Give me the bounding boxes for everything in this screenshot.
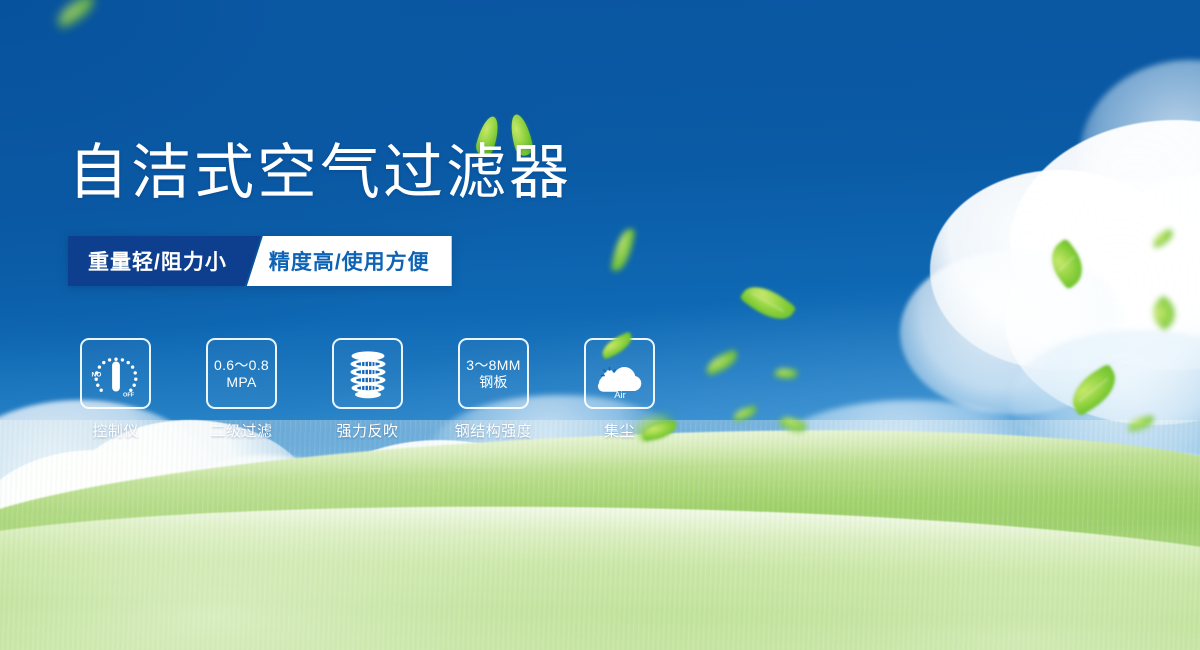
- feature-text-line1: 0.6～0.8: [214, 357, 269, 374]
- feature-label: 控制仪: [92, 420, 139, 441]
- dial-on-label: NO: [91, 371, 101, 378]
- feature-item-control-meter[interactable]: NO OFF 控制仪: [80, 338, 151, 441]
- feature-item-secondary-filtration[interactable]: 0.6～0.8 MPA 二级过滤: [206, 338, 277, 441]
- subtitle-left: 重量轻/阻力小: [68, 236, 261, 286]
- feature-label: 集尘: [604, 420, 635, 441]
- filter-cartridge-icon: [345, 348, 391, 400]
- feature-item-dust-collection[interactable]: Air 集尘: [584, 338, 655, 441]
- feature-box: 0.6～0.8 MPA: [206, 338, 277, 409]
- dial-off-label: OFF: [123, 392, 135, 398]
- feature-box: 3～8MM 钢板: [458, 338, 529, 409]
- feature-box-text: 0.6～0.8 MPA: [214, 357, 269, 391]
- feature-box: NO OFF: [80, 338, 151, 409]
- feature-text-line2: MPA: [214, 374, 269, 391]
- feature-label: 钢结构强度: [455, 420, 533, 441]
- feature-box-text: 3～8MM 钢板: [466, 357, 520, 391]
- subtitle-bar: 重量轻/阻力小 精度高/使用方便: [68, 236, 452, 286]
- feature-box: [332, 338, 403, 409]
- air-cloud-icon: Air: [590, 346, 650, 402]
- page-title: 自洁式空气过滤器: [68, 143, 572, 203]
- feature-list: NO OFF 控制仪 0.6～0.8 MPA 二级过滤: [80, 338, 655, 441]
- control-dial-icon: NO OFF: [86, 346, 146, 402]
- feature-text-line1: 3～8MM: [466, 357, 520, 374]
- banner-content: 自洁式空气过滤器 重量轻/阻力小 精度高/使用方便: [0, 0, 1200, 650]
- feature-label: 二级过滤: [210, 420, 272, 441]
- feature-item-steel-strength[interactable]: 3～8MM 钢板 钢结构强度: [458, 338, 529, 441]
- feature-text-line2: 钢板: [466, 374, 520, 391]
- subtitle-right: 精度高/使用方便: [247, 236, 452, 286]
- air-label: Air: [614, 390, 626, 401]
- product-banner: 自洁式空气过滤器 重量轻/阻力小 精度高/使用方便: [0, 0, 1200, 650]
- feature-label: 强力反吹: [336, 420, 398, 441]
- feature-item-strong-backblow[interactable]: 强力反吹: [332, 338, 403, 441]
